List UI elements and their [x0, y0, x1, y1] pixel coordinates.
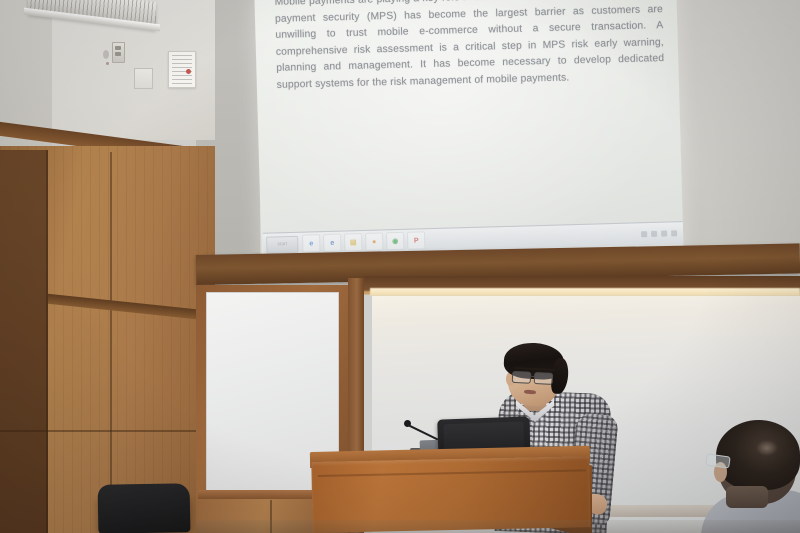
projection-screen: Mobile payments are playing a key role i…	[254, 0, 683, 266]
tray-icon[interactable]	[671, 230, 677, 236]
panel-corner-seam	[46, 150, 48, 533]
lecture-room-photo: Mobile payments are playing a key role i…	[0, 0, 800, 533]
audience-member-scalp-highlight	[756, 440, 778, 456]
posted-notice	[168, 51, 196, 88]
office-chair[interactable]	[98, 483, 191, 533]
panel-seam	[0, 430, 215, 432]
audience-member-hair	[716, 420, 800, 490]
light-switch-plate[interactable]	[112, 42, 125, 63]
blank-wall-panel	[134, 68, 153, 89]
panel-seam	[110, 152, 112, 533]
system-tray[interactable]	[641, 230, 677, 237]
wall-marking	[106, 62, 109, 65]
slide-text: Mobile payments are playing a key role i…	[274, 0, 664, 94]
whiteboard-right-toplight	[370, 288, 800, 296]
taskbar-icon-group[interactable]: e e ▤ ● ◉ P	[302, 231, 425, 252]
wood-paneling-side	[0, 150, 48, 533]
glasses-icon	[512, 371, 559, 384]
tray-icon[interactable]	[661, 231, 667, 237]
floor-shadow	[196, 520, 800, 533]
media-player-icon[interactable]: ●	[365, 232, 383, 250]
audience-member-neck	[726, 486, 768, 508]
powerpoint-icon[interactable]: P	[407, 231, 425, 249]
folder-icon[interactable]: ▤	[344, 233, 362, 251]
browser-icon[interactable]: e	[323, 234, 341, 252]
tray-icon[interactable]	[641, 231, 647, 237]
internet-explorer-icon[interactable]: e	[302, 234, 320, 252]
wall-marking	[103, 50, 109, 59]
chrome-icon[interactable]: ◉	[386, 232, 404, 250]
start-button[interactable]: start	[266, 235, 298, 253]
tray-icon[interactable]	[651, 231, 657, 237]
